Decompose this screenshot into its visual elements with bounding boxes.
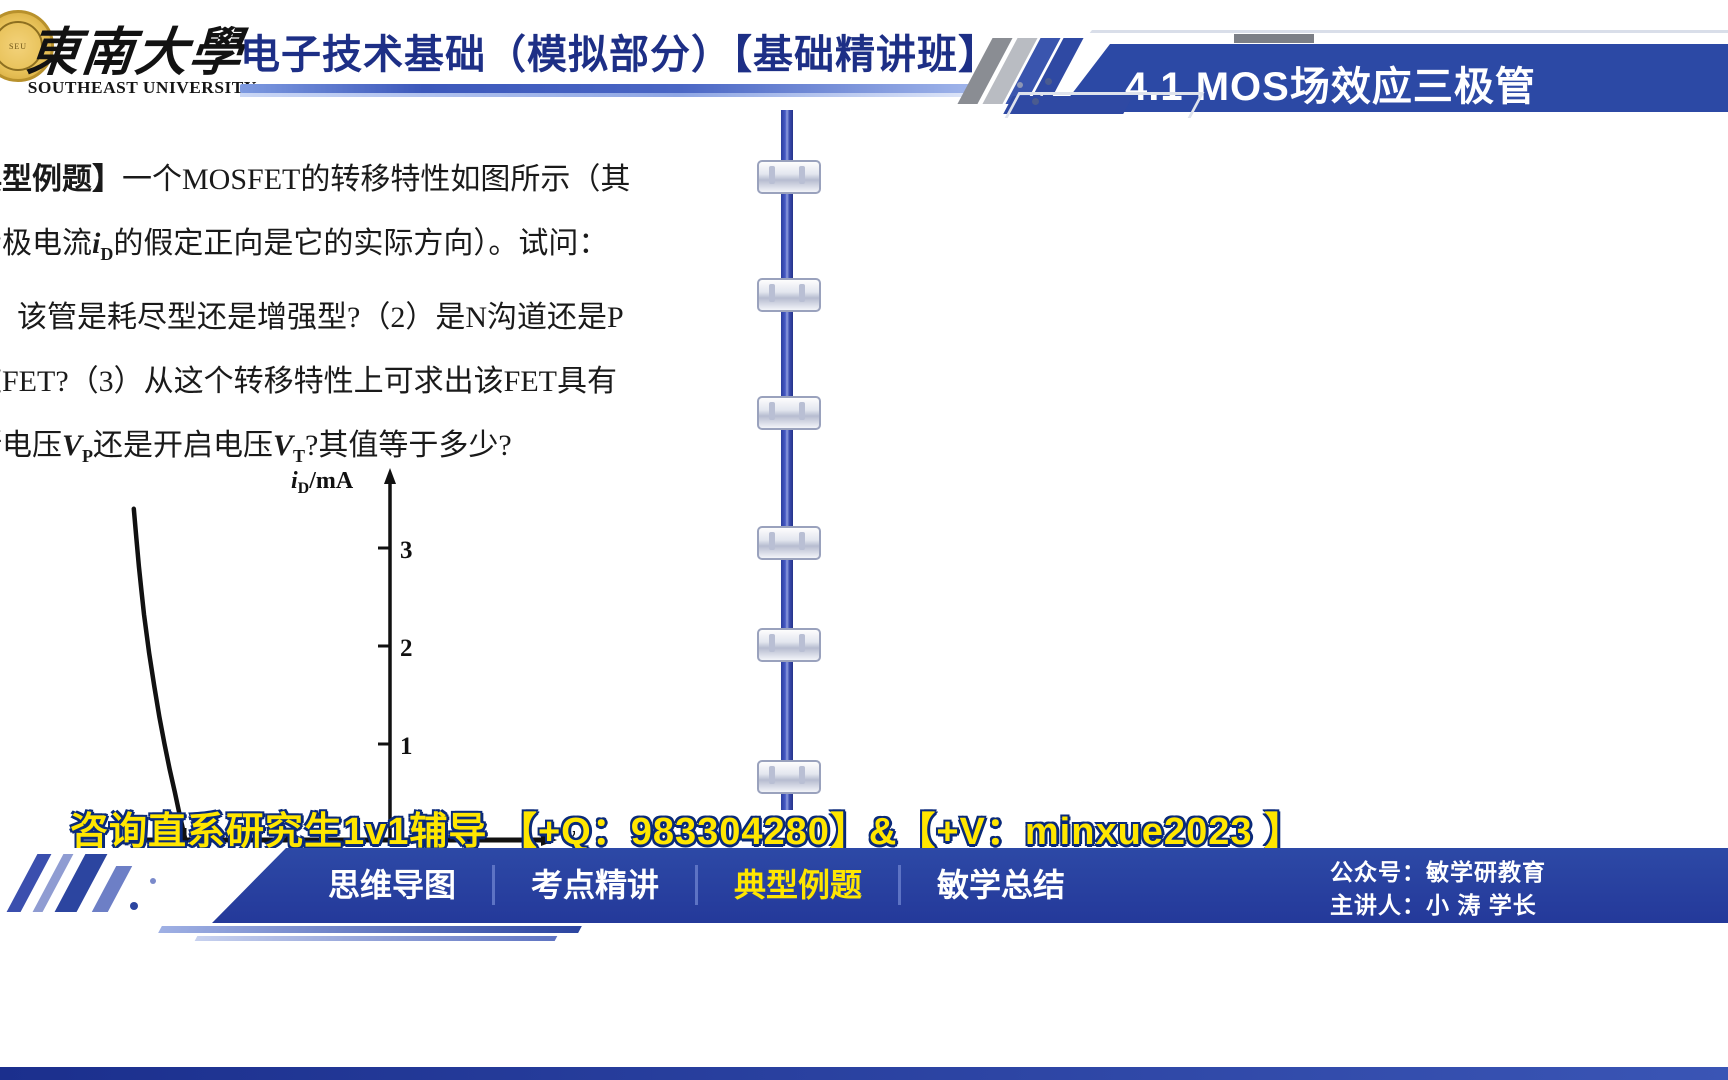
chart-svg: 3 2 1 -4 -2 0 iD/mA vGS/V — [95, 450, 575, 850]
footer-nav: 思维导图 考点精讲 典型例题 敏学总结 — [292, 851, 1101, 919]
header-dot-3 — [1017, 82, 1023, 88]
transfer-characteristic-chart: 3 2 1 -4 -2 0 iD/mA vGS/V — [95, 450, 575, 850]
spiral-ring — [757, 628, 817, 658]
question-label: 典型例题】 — [0, 163, 122, 196]
y-tick-label-3: 3 — [400, 537, 413, 564]
y-tick-label-1: 1 — [400, 733, 413, 760]
footer-accent-line-1 — [158, 926, 582, 933]
slide-question-text: 典型例题】一个MOSFET的转移特性如图所示（其 漏极电流iD的假定正向是它的实… — [0, 148, 732, 488]
title-underline — [240, 84, 970, 93]
tab-minxue-zongjie[interactable]: 敏学总结 — [901, 851, 1101, 919]
title-underline-secondary — [240, 93, 970, 97]
tab-kaodian-jingjiang[interactable]: 考点精讲 — [495, 851, 695, 919]
header-dot-1 — [1045, 78, 1052, 85]
question-line-1: 典型例题】一个MOSFET的转移特性如图所示（其 — [0, 148, 732, 212]
notebook-spine — [781, 110, 793, 810]
footer-info: 公众号：敏学研教育 主讲人：小 涛 学长 — [1330, 856, 1546, 922]
y-axis-arrow — [384, 468, 396, 484]
header-lower-outline — [1001, 92, 1204, 118]
spiral-ring — [757, 278, 817, 308]
spiral-ring — [757, 760, 817, 790]
question-line-5-a: 断电压 — [0, 429, 62, 462]
question-line-3: 1）该管是耗尽型还是增强型?（2）是N沟道还是P — [0, 286, 732, 350]
tab-siwei-daotu[interactable]: 思维导图 — [292, 851, 492, 919]
footer-accent-line-2 — [195, 936, 558, 941]
course-title: 电子技术基础（模拟部分）【基础精讲班】 — [240, 22, 999, 80]
question-line-2: 漏极电流iD的假定正向是它的实际方向）。试问： — [0, 212, 732, 286]
footer-stripe-4 — [92, 866, 132, 912]
symbol-vp-subscript: P — [82, 446, 93, 466]
question-line-4: 道FET?（3）从这个转移特性上可求出该FET具有 — [0, 350, 732, 414]
header-dot-2 — [1032, 98, 1039, 105]
logo-english-name: SOUTHEAST UNIVERSITY — [28, 78, 257, 98]
footer-bottom-strip — [0, 1067, 1728, 1080]
footer-bar: 思维导图 考点精讲 典型例题 敏学总结 公众号：敏学研教育 主讲人：小 涛 学长 — [0, 848, 1728, 1080]
header-bar: SEU 東南大學 SOUTHEAST UNIVERSITY 电子技术基础（模拟部… — [0, 0, 1728, 118]
question-line-1-body: 一个MOSFET的转移特性如图所示（其 — [122, 163, 630, 196]
logo-chinese-name: 東南大學 — [24, 10, 248, 85]
y-axis-label: iD/mA — [291, 468, 354, 497]
spiral-ring — [757, 396, 817, 426]
transfer-curve — [134, 509, 185, 838]
symbol-vp-italic: V — [62, 429, 82, 462]
tab-dianxing-liti[interactable]: 典型例题 — [698, 851, 898, 919]
question-line-2-b: 的假定正向是它的实际方向）。试问： — [113, 227, 608, 260]
header-dash-decoration — [1234, 34, 1314, 43]
footer-official-account: 公众号：敏学研教育 — [1330, 856, 1546, 889]
y-tick-label-2: 2 — [400, 635, 413, 662]
symbol-id-subscript: D — [100, 244, 113, 264]
question-line-2-a: 漏极电流 — [0, 227, 92, 260]
university-logo: SEU 東南大學 SOUTHEAST UNIVERSITY — [0, 4, 215, 104]
footer-dot-1 — [130, 902, 138, 910]
footer-dot-2 — [150, 878, 156, 884]
spiral-ring — [757, 160, 817, 190]
footer-lecturer: 主讲人：小 涛 学长 — [1330, 889, 1546, 922]
spiral-ring — [757, 526, 817, 556]
